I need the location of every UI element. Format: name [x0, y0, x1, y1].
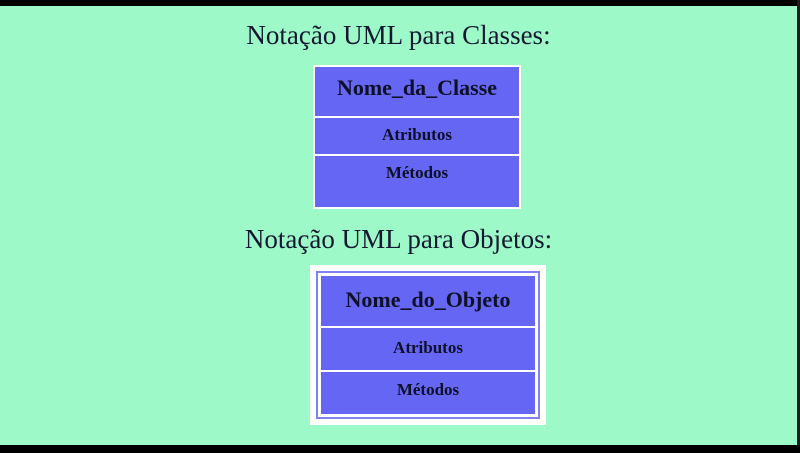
object-section-title: Notação UML para Objetos:	[0, 224, 797, 255]
object-name-compartment: Nome_do_Objeto	[321, 276, 535, 328]
class-name-compartment: Nome_da_Classe	[315, 67, 519, 118]
object-methods-compartment: Métodos	[321, 372, 535, 420]
class-section-title: Notação UML para Classes:	[0, 20, 797, 51]
uml-class-box: Nome_da_Classe Atributos Métodos	[313, 65, 521, 209]
bottom-frame-bar	[0, 445, 800, 453]
uml-object-box: Nome_do_Objeto Atributos Métodos	[310, 265, 546, 425]
object-box-outer-ring: Nome_do_Objeto Atributos Métodos	[316, 271, 540, 419]
slide-canvas: Notação UML para Classes: Nome_da_Classe…	[0, 0, 800, 453]
object-box-inner: Nome_do_Objeto Atributos Métodos	[320, 275, 536, 415]
object-attributes-compartment: Atributos	[321, 328, 535, 372]
class-attributes-compartment: Atributos	[315, 118, 519, 156]
class-methods-compartment: Métodos	[315, 156, 519, 205]
slide-background: Notação UML para Classes: Nome_da_Classe…	[0, 6, 797, 445]
